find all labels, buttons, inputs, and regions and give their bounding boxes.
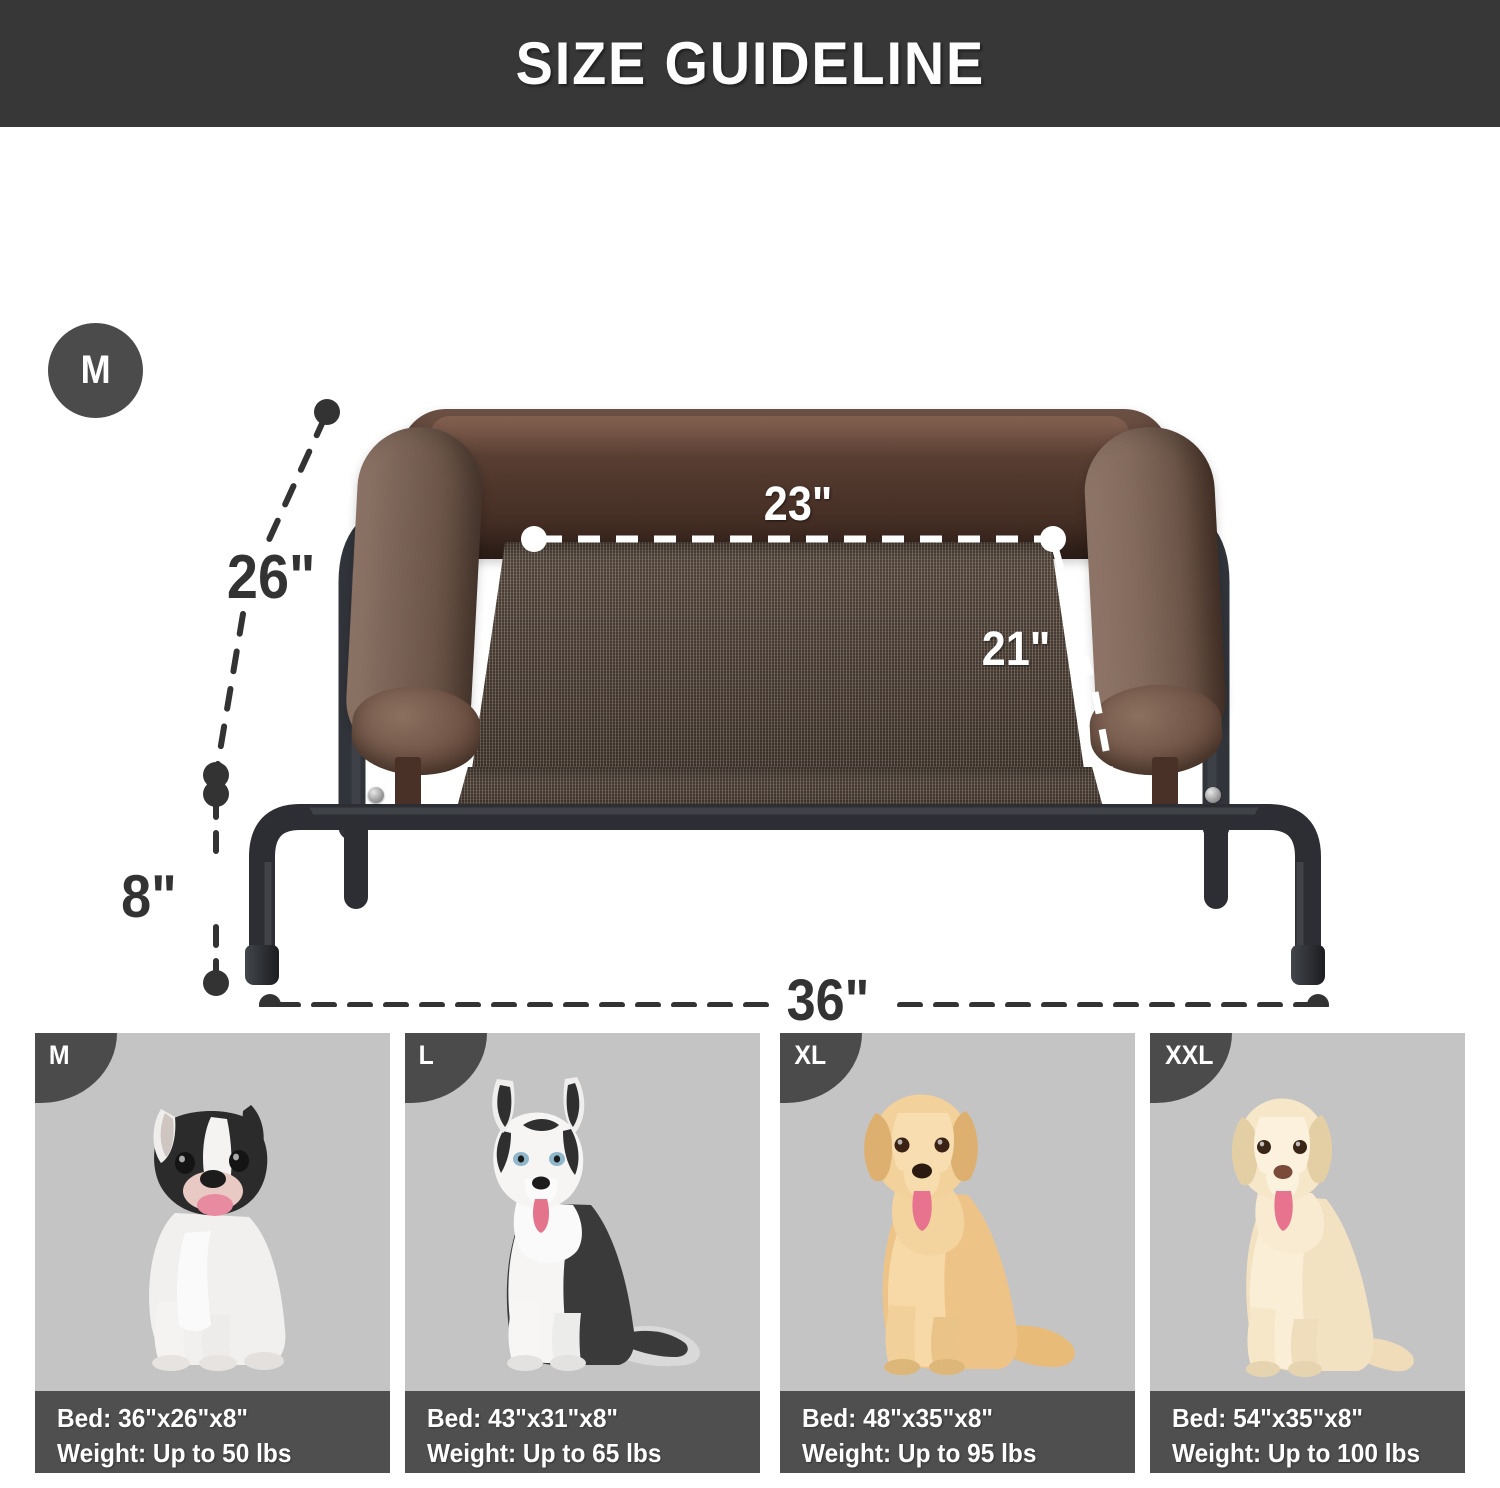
dimension-label-26: 26" (227, 542, 316, 613)
card-bed-size: Bed: 43"x31"x8" (427, 1401, 740, 1436)
card-badge-label: XXL (1165, 1042, 1213, 1069)
product-diagram-section: M (0, 127, 1500, 1007)
card-badge-label: L (419, 1042, 434, 1069)
card-bed-size: Bed: 48"x35"x8" (802, 1401, 1115, 1436)
dimension-label-23: 23" (764, 477, 833, 532)
card-photo-xxl: XXL (1150, 1033, 1465, 1392)
screw-right (1205, 787, 1221, 803)
size-card-l[interactable]: L (405, 1033, 760, 1473)
foot-right-front (1291, 945, 1325, 985)
elevated-dog-bed-illustration (0, 127, 1500, 1007)
size-card-xl[interactable]: XL (780, 1033, 1135, 1473)
card-photo-m: M (35, 1033, 390, 1392)
card-bed-size: Bed: 54"x35"x8" (1172, 1401, 1447, 1436)
card-caption-xl: Bed: 48"x35"x8" Weight: Up to 95 lbs (780, 1391, 1135, 1473)
card-caption-xxl: Bed: 54"x35"x8" Weight: Up to 100 lbs (1150, 1391, 1465, 1473)
card-badge-label: XL (794, 1042, 826, 1069)
card-photo-xl: XL (780, 1033, 1135, 1392)
size-card-xxl[interactable]: XXL (1150, 1033, 1465, 1473)
page-header: SIZE GUIDELINE (0, 0, 1500, 127)
card-weight: Weight: Up to 95 lbs (802, 1436, 1115, 1471)
screw-left (368, 787, 384, 803)
size-cards-row: M (0, 1007, 1500, 1488)
card-badge-label: M (49, 1042, 70, 1069)
foot-left-front (245, 945, 279, 985)
card-caption-m: Bed: 36"x26"x8" Weight: Up to 50 lbs (35, 1391, 390, 1473)
bed-legs-svg (0, 127, 1500, 1007)
card-weight: Weight: Up to 100 lbs (1172, 1436, 1447, 1471)
card-photo-l: L (405, 1033, 760, 1392)
dimension-label-21: 21" (982, 622, 1051, 677)
card-weight: Weight: Up to 65 lbs (427, 1436, 740, 1471)
card-bed-size: Bed: 36"x26"x8" (57, 1401, 370, 1436)
card-weight: Weight: Up to 50 lbs (57, 1436, 370, 1471)
page-title: SIZE GUIDELINE (515, 29, 984, 98)
card-caption-l: Bed: 43"x31"x8" Weight: Up to 65 lbs (405, 1391, 760, 1473)
dimension-label-8: 8" (121, 862, 177, 931)
size-card-m[interactable]: M (35, 1033, 390, 1473)
